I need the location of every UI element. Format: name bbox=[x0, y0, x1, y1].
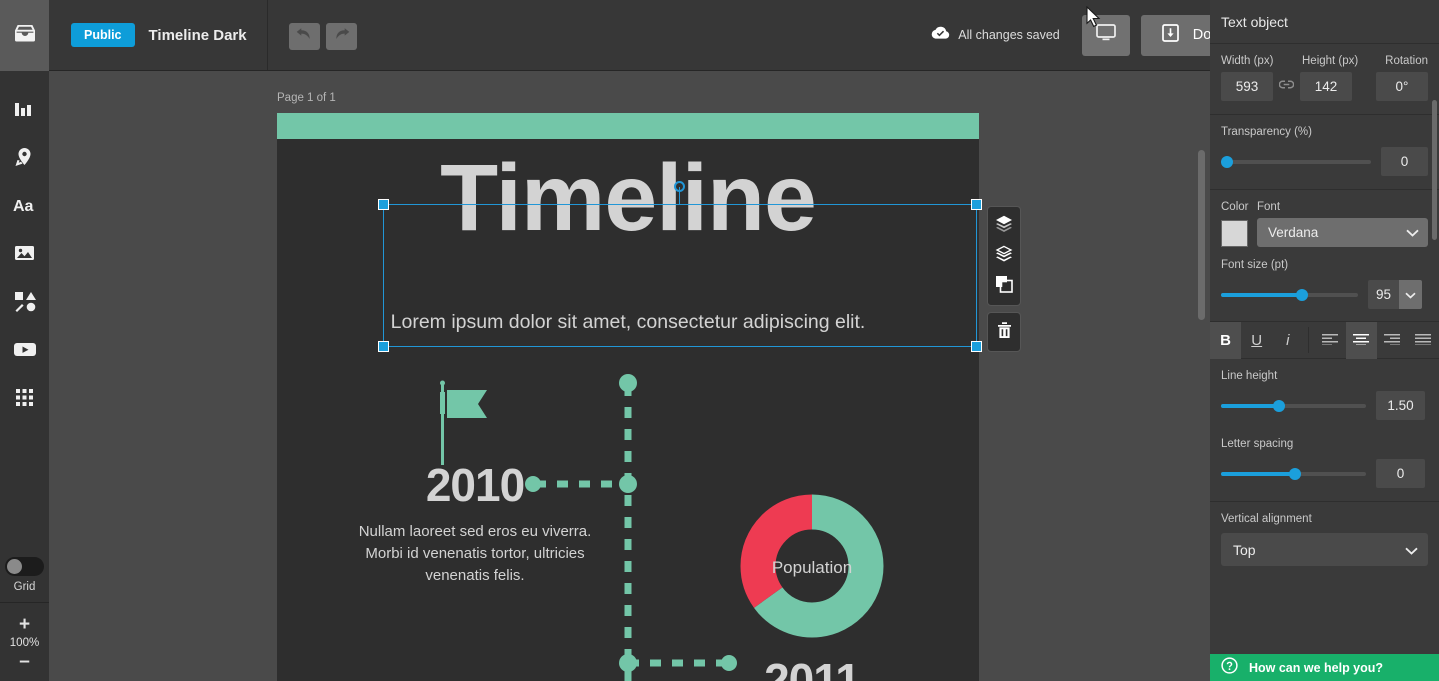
document-title[interactable]: Timeline Dark bbox=[149, 27, 247, 44]
entry-body-line: Morbi id venenatis tortor, ultricies bbox=[325, 543, 625, 565]
image-icon bbox=[14, 244, 35, 262]
color-swatch[interactable] bbox=[1221, 220, 1248, 247]
font-size-input[interactable]: 95 bbox=[1368, 280, 1399, 309]
bold-button[interactable]: B bbox=[1210, 322, 1241, 359]
chevron-down-icon bbox=[1405, 286, 1416, 304]
vertical-alignment-label: Vertical alignment bbox=[1221, 513, 1428, 525]
sidebar-item-images[interactable] bbox=[0, 229, 49, 277]
grid-toggle[interactable] bbox=[5, 557, 44, 576]
entry-year-2011[interactable]: 2011 bbox=[739, 653, 885, 681]
resize-handle-top-right[interactable] bbox=[971, 199, 982, 210]
transparency-slider[interactable] bbox=[1221, 155, 1371, 169]
width-input[interactable]: 593 bbox=[1221, 72, 1273, 101]
flag-icon bbox=[440, 381, 487, 466]
font-size-label: Font size (pt) bbox=[1221, 259, 1428, 271]
slider-knob[interactable] bbox=[1296, 289, 1308, 301]
align-center-icon bbox=[1353, 332, 1369, 349]
svg-text:Aa: Aa bbox=[13, 198, 34, 214]
rotation-handle[interactable] bbox=[674, 181, 685, 192]
grid-label: Grid bbox=[14, 581, 36, 593]
typography-section: Color Font Verdana Font size (pt) bbox=[1210, 189, 1439, 309]
align-left-icon bbox=[1322, 332, 1338, 349]
panel-scrollbar[interactable] bbox=[1432, 100, 1437, 240]
text-aa-icon: Aa bbox=[13, 197, 37, 214]
undo-icon bbox=[296, 28, 313, 46]
visibility-badge[interactable]: Public bbox=[71, 23, 135, 47]
transparency-label: Transparency (%) bbox=[1221, 126, 1428, 138]
entry-body-line: Nullam laoreet sed eros eu viverra. bbox=[325, 521, 625, 543]
align-justify-icon bbox=[1415, 332, 1431, 349]
bring-to-front-icon bbox=[995, 215, 1013, 237]
question-circle-icon bbox=[1221, 657, 1238, 679]
slider-track bbox=[1221, 160, 1371, 164]
size-labels-row: Width (px) Height (px) Rotation bbox=[1221, 55, 1428, 72]
sidebar-item-video[interactable] bbox=[0, 325, 49, 373]
donut-center-label: Population bbox=[739, 558, 885, 578]
save-status-label: All changes saved bbox=[958, 28, 1059, 42]
object-floating-toolbar bbox=[987, 206, 1021, 352]
letter-spacing-input[interactable]: 0 bbox=[1376, 459, 1425, 488]
vertical-alignment-select[interactable]: Top bbox=[1221, 533, 1428, 566]
align-right-button[interactable] bbox=[1377, 322, 1408, 359]
help-label: How can we help you? bbox=[1249, 661, 1383, 675]
bring-to-front-button[interactable] bbox=[988, 211, 1020, 241]
line-height-row: 1.50 bbox=[1221, 391, 1428, 420]
spacing-section: Line height 1.50 Letter spacing 0 bbox=[1210, 359, 1439, 501]
italic-button[interactable]: i bbox=[1272, 322, 1303, 359]
zoom-level-label: 100% bbox=[10, 637, 39, 649]
entry-body-2010[interactable]: Nullam laoreet sed eros eu viverra. Morb… bbox=[325, 521, 625, 587]
duplicate-button[interactable] bbox=[988, 271, 1020, 301]
zoom-controls: + 100% – bbox=[0, 603, 49, 681]
map-pin-icon bbox=[14, 147, 35, 168]
letter-spacing-slider[interactable] bbox=[1221, 467, 1366, 481]
link-icon[interactable] bbox=[1273, 76, 1300, 101]
save-status: All changes saved bbox=[931, 26, 1059, 45]
sidebar-item-maps[interactable] bbox=[0, 133, 49, 181]
resize-handle-top-left[interactable] bbox=[378, 199, 389, 210]
transparency-section: Transparency (%) 0 bbox=[1210, 114, 1439, 189]
align-justify-button[interactable] bbox=[1408, 322, 1439, 359]
vertical-alignment-section: Vertical alignment Top bbox=[1210, 501, 1439, 579]
cloud-check-icon bbox=[931, 26, 950, 45]
download-icon bbox=[1162, 24, 1179, 46]
redo-button[interactable] bbox=[326, 23, 357, 50]
font-family-value: Verdana bbox=[1268, 225, 1318, 240]
left-toolbar: Aa bbox=[0, 0, 49, 681]
help-bar[interactable]: How can we help you? bbox=[1210, 654, 1439, 681]
text-format-toolbar: B U i bbox=[1210, 321, 1439, 359]
canvas-workspace[interactable]: Page 1 of 1 Timeline Lorem ipsum dolor s… bbox=[49, 71, 1210, 681]
history-buttons bbox=[289, 23, 357, 50]
chevron-down-icon bbox=[1406, 225, 1419, 240]
send-to-back-button[interactable] bbox=[988, 241, 1020, 271]
preview-button[interactable] bbox=[1082, 15, 1130, 56]
entry-body-line: venenatis felis. bbox=[325, 565, 625, 587]
size-section: Width (px) Height (px) Rotation 593 142 … bbox=[1210, 43, 1439, 114]
sidebar-item-more[interactable] bbox=[0, 373, 49, 421]
monitor-icon bbox=[1096, 24, 1116, 46]
properties-panel: Text object Width (px) Height (px) Rotat… bbox=[1210, 0, 1439, 681]
entry-year-2010[interactable]: 2010 bbox=[395, 458, 555, 512]
line-height-label: Line height bbox=[1221, 370, 1428, 382]
delete-button[interactable] bbox=[988, 317, 1020, 347]
size-fields-row: 593 142 0° bbox=[1221, 72, 1428, 101]
canvas-header-band bbox=[277, 113, 979, 139]
font-size-slider[interactable] bbox=[1221, 288, 1358, 302]
canvas-scrollbar[interactable] bbox=[1198, 150, 1205, 320]
redo-icon bbox=[333, 28, 350, 46]
align-center-button[interactable] bbox=[1346, 322, 1377, 359]
slider-knob[interactable] bbox=[1221, 156, 1233, 168]
color-font-controls: Verdana bbox=[1221, 218, 1428, 247]
line-height-slider[interactable] bbox=[1221, 399, 1366, 413]
slider-knob[interactable] bbox=[1273, 400, 1285, 412]
format-divider bbox=[1308, 327, 1309, 353]
video-icon bbox=[13, 341, 37, 358]
page-indicator: Page 1 of 1 bbox=[277, 92, 336, 104]
font-size-stepper[interactable] bbox=[1399, 280, 1422, 309]
slider-knob[interactable] bbox=[1289, 468, 1301, 480]
selection-bounding-box[interactable] bbox=[383, 204, 977, 347]
object-tools-group bbox=[987, 206, 1021, 306]
color-font-labels: Color Font bbox=[1221, 201, 1428, 218]
sidebar-item-text[interactable]: Aa bbox=[0, 181, 49, 229]
bar-chart-icon bbox=[14, 100, 35, 119]
font-family-select[interactable]: Verdana bbox=[1257, 218, 1428, 247]
height-label: Height (px) bbox=[1302, 55, 1364, 67]
align-right-icon bbox=[1384, 332, 1400, 349]
slider-fill bbox=[1221, 293, 1302, 297]
line-height-input[interactable]: 1.50 bbox=[1376, 391, 1425, 420]
resize-handle-bottom-right[interactable] bbox=[971, 341, 982, 352]
width-label: Width (px) bbox=[1221, 55, 1283, 67]
transparency-input[interactable]: 0 bbox=[1381, 147, 1428, 176]
height-input[interactable]: 142 bbox=[1300, 72, 1352, 101]
underline-button[interactable]: U bbox=[1241, 322, 1272, 359]
zoom-out-button[interactable]: – bbox=[19, 652, 30, 671]
font-label: Font bbox=[1257, 201, 1428, 213]
vertical-alignment-value: Top bbox=[1233, 542, 1256, 558]
trash-icon bbox=[996, 321, 1013, 344]
panel-title: Text object bbox=[1210, 0, 1439, 43]
letter-spacing-row: 0 bbox=[1221, 459, 1428, 488]
toggle-knob bbox=[7, 559, 22, 574]
inbox-icon bbox=[14, 24, 36, 47]
rotation-input[interactable]: 0° bbox=[1376, 72, 1428, 101]
transparency-row: 0 bbox=[1221, 147, 1428, 176]
shapes-icon bbox=[14, 291, 36, 312]
rail-icon-list: Aa bbox=[0, 71, 49, 421]
sidebar-item-shapes[interactable] bbox=[0, 277, 49, 325]
sidebar-item-charts[interactable] bbox=[0, 85, 49, 133]
letter-spacing-label: Letter spacing bbox=[1221, 438, 1428, 450]
duplicate-icon bbox=[995, 275, 1013, 298]
chevron-down-icon bbox=[1405, 542, 1418, 558]
resize-handle-bottom-left[interactable] bbox=[378, 341, 389, 352]
align-left-button[interactable] bbox=[1314, 322, 1345, 359]
grid-apps-icon bbox=[15, 388, 34, 407]
slider-fill bbox=[1221, 472, 1295, 476]
font-size-row: 95 bbox=[1221, 280, 1428, 309]
delete-tool-group bbox=[987, 312, 1021, 352]
app-logo-button[interactable] bbox=[0, 0, 49, 71]
rotation-label: Rotation bbox=[1364, 55, 1428, 67]
send-to-back-icon bbox=[995, 245, 1013, 267]
app-root: Aa bbox=[0, 0, 1439, 681]
grid-toggle-block: Grid bbox=[0, 557, 49, 603]
undo-button[interactable] bbox=[289, 23, 320, 50]
document-info: Public Timeline Dark bbox=[49, 0, 268, 70]
slider-fill bbox=[1221, 404, 1279, 408]
color-label: Color bbox=[1221, 201, 1257, 213]
zoom-in-button[interactable]: + bbox=[19, 615, 30, 634]
